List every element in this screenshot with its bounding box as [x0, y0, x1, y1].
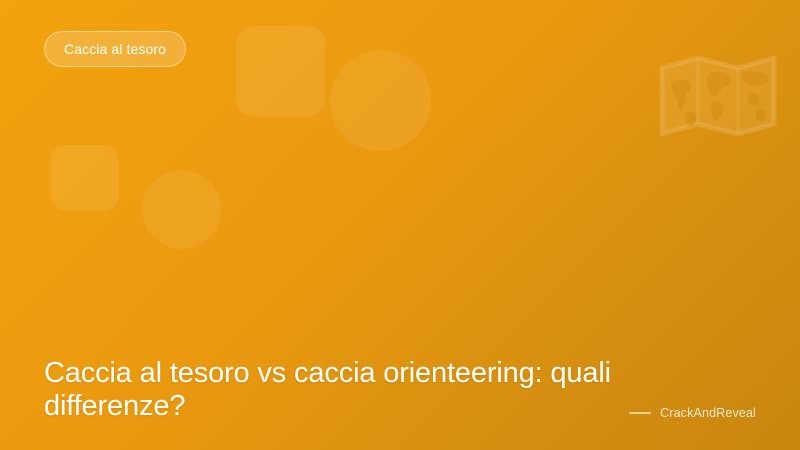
slide-canvas: Caccia al tesoro Caccia al tesoro vs cac… — [0, 0, 800, 450]
decoration-rounded-square-large — [236, 26, 326, 117]
decoration-circle-small — [142, 170, 221, 249]
decoration-rounded-square-small — [50, 145, 119, 211]
folded-map-icon — [656, 50, 780, 142]
decoration-circle-large — [330, 50, 431, 151]
brand-watermark: CrackAndReveal — [629, 406, 756, 420]
category-badge[interactable]: Caccia al tesoro — [44, 31, 186, 67]
category-badge-label: Caccia al tesoro — [64, 41, 166, 57]
slide-title: Caccia al tesoro vs caccia orienteering:… — [44, 357, 624, 423]
brand-divider-line — [629, 412, 651, 414]
brand-name-label: CrackAndReveal — [660, 406, 756, 420]
